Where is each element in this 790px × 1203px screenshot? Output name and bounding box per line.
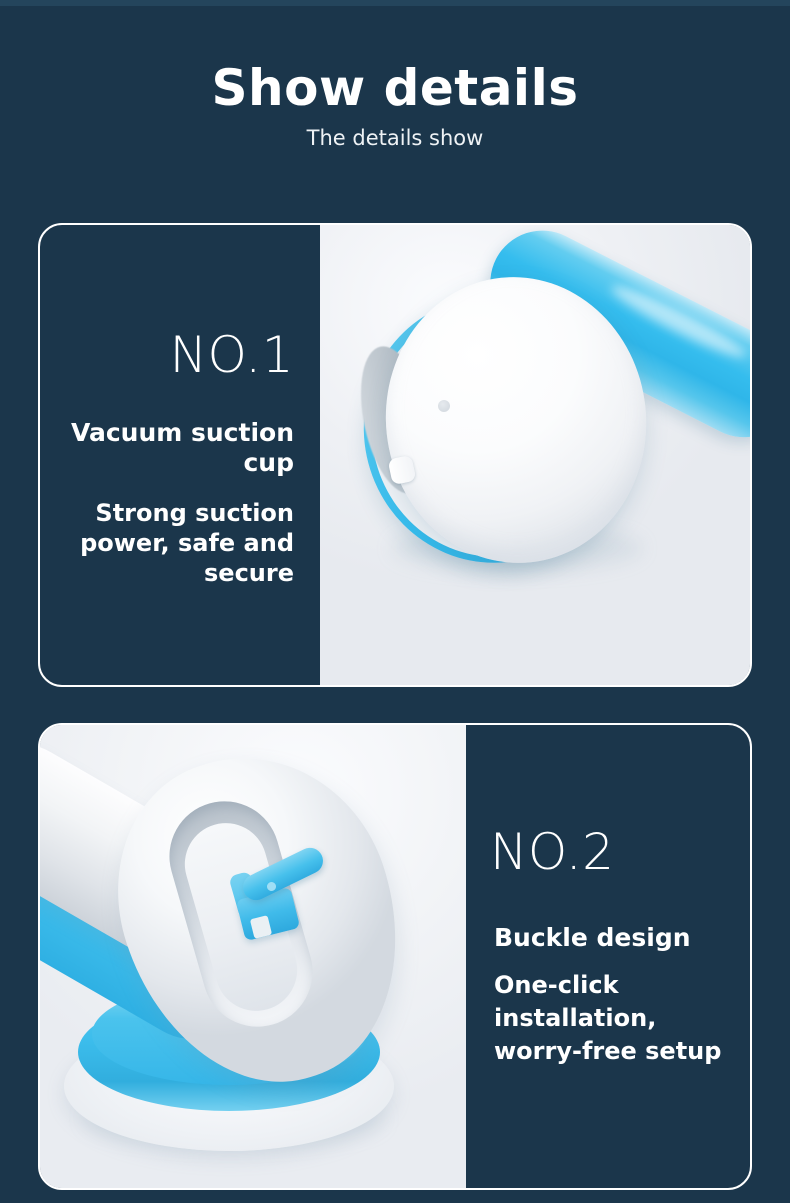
card-no1-heading: Vacuum suction cup bbox=[62, 418, 294, 478]
disc-center-dimple bbox=[438, 400, 450, 412]
vacuum-suction-cup-photo bbox=[320, 225, 750, 685]
page-subtitle: The details show bbox=[0, 124, 790, 152]
top-accent-strip bbox=[0, 0, 790, 6]
card-no2-number: NO.2 bbox=[490, 825, 730, 879]
product-detail-page: Show details The details show NO.1 Vacuu… bbox=[0, 0, 790, 1203]
page-title: Show details bbox=[0, 58, 790, 118]
detail-card-no1: NO.1 Vacuum suction cup Strong suction p… bbox=[38, 223, 752, 687]
card-no1-text-block: NO.1 Vacuum suction cup Strong suction p… bbox=[40, 225, 320, 685]
card-no1-description: Strong suction power, safe and secure bbox=[62, 498, 294, 588]
card-no1-number: NO.1 bbox=[62, 328, 294, 382]
card-no2-description: One-click installation, worry-free setup bbox=[494, 969, 730, 1068]
page-header: Show details The details show bbox=[0, 58, 790, 152]
detail-card-no2: NO.2 Buckle design One-click installatio… bbox=[38, 723, 752, 1190]
card-no2-text-block: NO.2 Buckle design One-click installatio… bbox=[466, 725, 750, 1188]
card-no2-heading: Buckle design bbox=[494, 923, 730, 953]
buckle-design-photo bbox=[40, 725, 466, 1188]
